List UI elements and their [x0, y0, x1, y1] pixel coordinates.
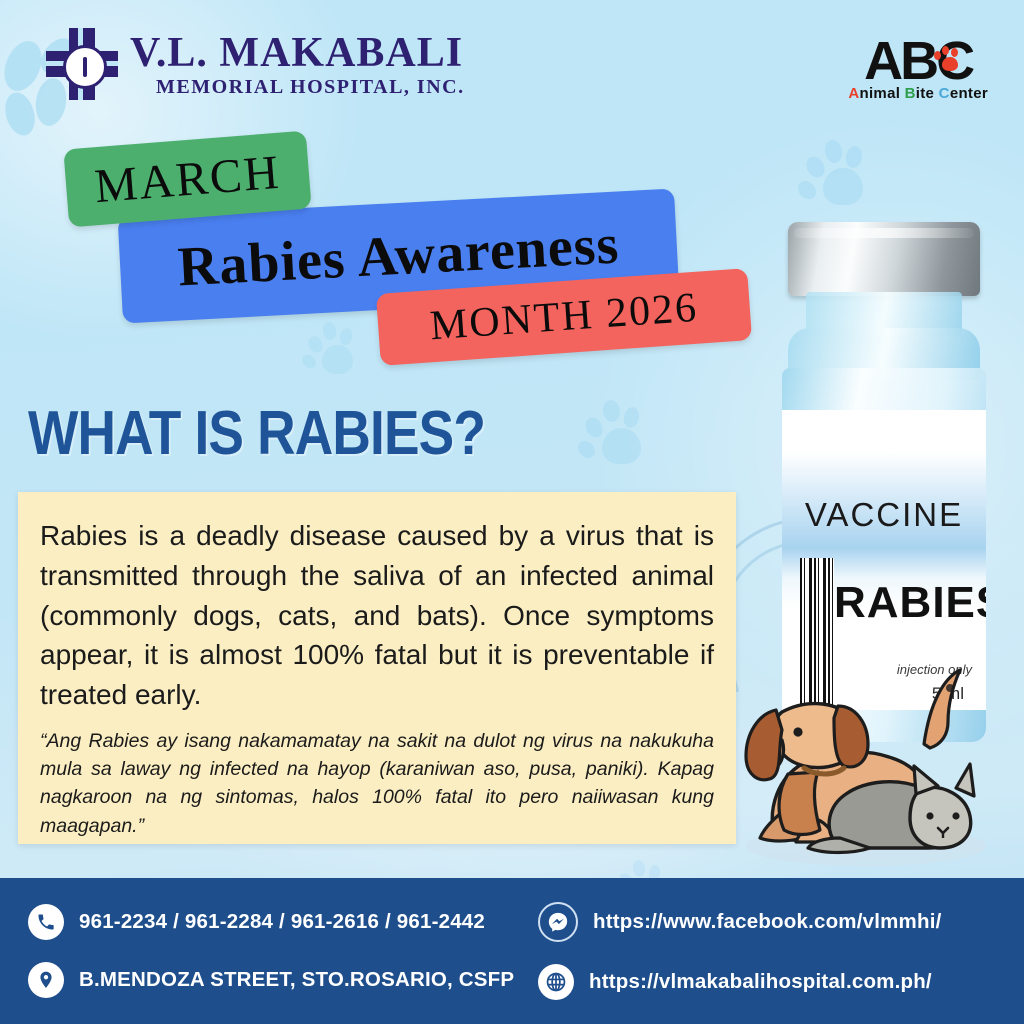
info-panel: Rabies is a deadly disease caused by a v…: [18, 492, 736, 844]
vial-label-rabies: RABIES: [834, 578, 986, 628]
decorative-leaf: [0, 89, 39, 139]
vial-metal-cap: [788, 222, 980, 296]
abc-animal-bite-center-logo: ABC Animal Bite Center: [848, 36, 988, 102]
abc-letter-a: A: [864, 31, 900, 91]
page-title: WHAT IS RABIES?: [28, 398, 485, 469]
tagline-a: A: [848, 85, 859, 102]
footer-row-address[interactable]: B.MENDOZA STREET, STO.ROSARIO, CSFP: [28, 962, 528, 998]
hospital-name-line2: MEMORIAL HOSPITAL, INC.: [156, 77, 465, 97]
abc-letter-b: B: [900, 31, 936, 91]
footer-row-phone[interactable]: 961-2234 / 961-2284 / 961-2616 / 961-244…: [28, 904, 528, 940]
paw-print-icon: [575, 400, 647, 470]
globe-icon: [538, 964, 574, 1000]
abc-wordmark: ABC: [864, 36, 972, 87]
paw-print-icon: [300, 322, 358, 378]
footer-row-facebook[interactable]: https://www.facebook.com/vlmmhi/: [538, 902, 942, 942]
location-pin-icon: [28, 962, 64, 998]
banner-month-label: MONTH 2026: [428, 284, 699, 351]
messenger-icon: [538, 902, 578, 942]
hospital-logo: V.L. MAKABALI MEMORIAL HOSPITAL, INC.: [46, 28, 465, 100]
phone-icon: [28, 904, 64, 940]
street-address: B.MENDOZA STREET, STO.ROSARIO, CSFP: [79, 968, 514, 992]
rabies-awareness-poster: V.L. MAKABALI MEMORIAL HOSPITAL, INC. AB…: [0, 0, 1024, 1024]
description-english: Rabies is a deadly disease caused by a v…: [40, 516, 714, 715]
medical-cross-seal-icon: [46, 28, 118, 100]
phone-numbers: 961-2234 / 961-2284 / 961-2616 / 961-244…: [79, 910, 485, 934]
dog-and-cat-illustration: [716, 648, 1024, 870]
contact-footer: 961-2234 / 961-2284 / 961-2616 / 961-244…: [0, 878, 1024, 1024]
website-url: https://vlmakabalihospital.com.ph/: [589, 970, 932, 994]
hospital-name-line1: V.L. MAKABALI: [130, 32, 465, 74]
facebook-url: https://www.facebook.com/vlmmhi/: [593, 910, 942, 934]
vial-label-vaccine: VACCINE: [782, 496, 986, 534]
red-paw-icon: [933, 46, 963, 74]
description-tagalog: “Ang Rabies ay isang nakamamatay na saki…: [40, 727, 714, 840]
paw-print-icon: [795, 140, 869, 212]
footer-row-website[interactable]: https://vlmakabalihospital.com.ph/: [538, 964, 942, 1000]
banner-march-label: MARCH: [93, 144, 283, 213]
